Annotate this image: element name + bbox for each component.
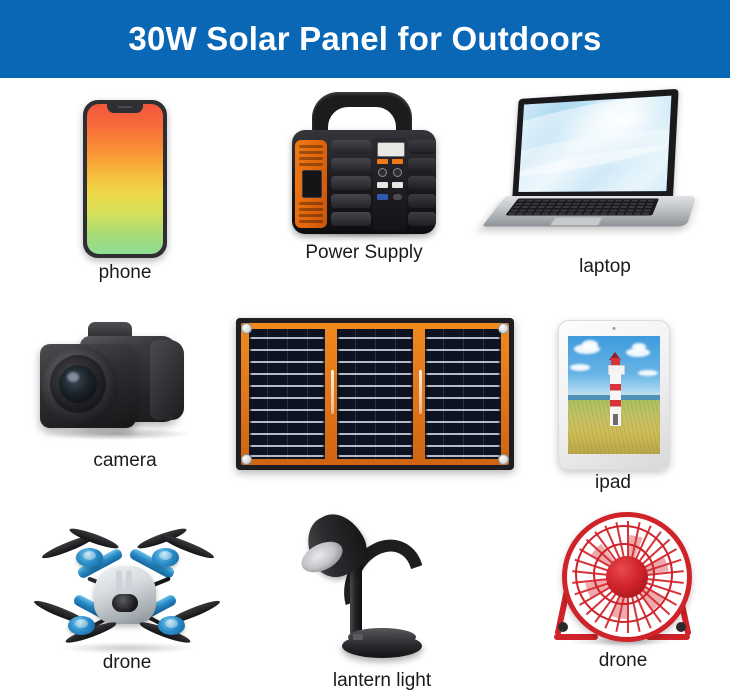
camera-shadow bbox=[42, 428, 192, 440]
grid-item-power-supply: Power Supply bbox=[286, 92, 442, 282]
page-title: 30W Solar Panel for Outdoors bbox=[128, 20, 601, 58]
laptop-keyboard bbox=[505, 198, 659, 215]
mode-indicator-icon bbox=[393, 168, 402, 177]
solar-panel-fold-highlight bbox=[419, 370, 422, 414]
solar-panel-grommet bbox=[498, 323, 509, 334]
tablet-body bbox=[558, 320, 670, 470]
camera-lens bbox=[40, 344, 136, 428]
drone-body bbox=[94, 566, 156, 624]
caption-lantern-light: lantern light bbox=[296, 670, 468, 692]
grid-item-phone: phone bbox=[40, 92, 210, 292]
laptop-screen bbox=[518, 96, 671, 192]
camera-grip bbox=[150, 340, 184, 420]
grid-item-laptop: laptop bbox=[500, 96, 710, 296]
phone-screen bbox=[87, 104, 163, 254]
solar-panel-fold-highlight bbox=[331, 370, 334, 414]
caption-phone: phone bbox=[40, 262, 210, 284]
caption-ipad: ipad bbox=[558, 472, 668, 494]
solar-panel-frame bbox=[236, 318, 514, 470]
solar-panel-grommet bbox=[498, 454, 509, 465]
drone-motor bbox=[152, 548, 179, 567]
camera-lens-highlight bbox=[67, 372, 79, 382]
power-button-icon bbox=[377, 159, 388, 164]
power-supply-side-panel bbox=[295, 140, 327, 228]
solar-panel-section-3 bbox=[425, 329, 501, 459]
quadcopter-drone-image bbox=[24, 512, 230, 662]
solar-panel-section-1 bbox=[249, 329, 325, 459]
fan-pivot-joint bbox=[676, 622, 686, 632]
grid-item-drone-left: drone bbox=[24, 512, 230, 682]
header-banner: 30W Solar Panel for Outdoors bbox=[0, 0, 730, 78]
fan-hub bbox=[606, 556, 648, 598]
smartphone-image bbox=[40, 92, 210, 267]
dc-output-icon bbox=[393, 194, 402, 200]
lighthouse-door-icon bbox=[613, 414, 618, 425]
caption-laptop: laptop bbox=[500, 256, 710, 278]
fan-cage bbox=[562, 512, 692, 642]
drone-camera-gimbal bbox=[112, 594, 138, 612]
caption-drone-left: drone bbox=[24, 652, 230, 674]
folding-solar-panel-image bbox=[236, 318, 514, 470]
solar-panel-section-2 bbox=[337, 329, 413, 459]
tablet-screen bbox=[568, 336, 660, 454]
tablet-image bbox=[558, 320, 668, 470]
caption-drone-right: drone bbox=[540, 650, 706, 672]
drone-motor bbox=[68, 616, 95, 635]
caption-power-supply: Power Supply bbox=[286, 242, 442, 264]
tablet-front-camera-icon bbox=[613, 327, 616, 330]
desk-fan-image bbox=[540, 510, 706, 656]
dslr-camera-image bbox=[22, 318, 228, 448]
drone-motor bbox=[158, 616, 185, 635]
caption-camera: camera bbox=[22, 450, 228, 472]
grid-item-ipad: ipad bbox=[558, 320, 668, 505]
usb-port-icon bbox=[392, 182, 403, 188]
power-indicator-icon bbox=[378, 168, 387, 177]
grid-item-camera: camera bbox=[22, 318, 228, 488]
grid-item-lantern-light: lantern light bbox=[296, 508, 468, 688]
laptop-lid bbox=[512, 89, 679, 202]
phone-earpiece-speaker bbox=[118, 106, 133, 108]
laptop-base bbox=[482, 196, 696, 227]
fan-foot bbox=[554, 634, 598, 640]
power-supply-control-panel bbox=[373, 138, 407, 230]
usb3-port-icon bbox=[377, 194, 388, 200]
laptop-trackpad bbox=[549, 217, 603, 226]
dc-button-icon bbox=[392, 159, 403, 164]
grid-item-solar-panel bbox=[236, 318, 514, 473]
phone-body bbox=[83, 100, 167, 258]
laptop-image bbox=[500, 96, 710, 256]
fan-pivot-joint bbox=[558, 622, 568, 632]
product-infographic: 30W Solar Panel for Outdoors phone bbox=[0, 0, 730, 696]
power-supply-right-fins bbox=[408, 140, 436, 228]
lcd-display-icon bbox=[377, 142, 405, 157]
solar-panel-grommet bbox=[241, 323, 252, 334]
camera-lens-glass bbox=[59, 365, 97, 403]
drone-motor bbox=[76, 548, 103, 567]
portable-power-station-image bbox=[286, 92, 442, 244]
power-supply-left-fins bbox=[331, 140, 371, 228]
desk-lamp-image bbox=[296, 508, 468, 668]
ac-outlet-icon bbox=[302, 170, 322, 198]
solar-panel-grommet bbox=[241, 454, 252, 465]
usb-port-icon bbox=[377, 182, 388, 188]
lamp-power-switch[interactable] bbox=[353, 634, 363, 640]
grid-item-drone-right: drone bbox=[540, 510, 706, 680]
